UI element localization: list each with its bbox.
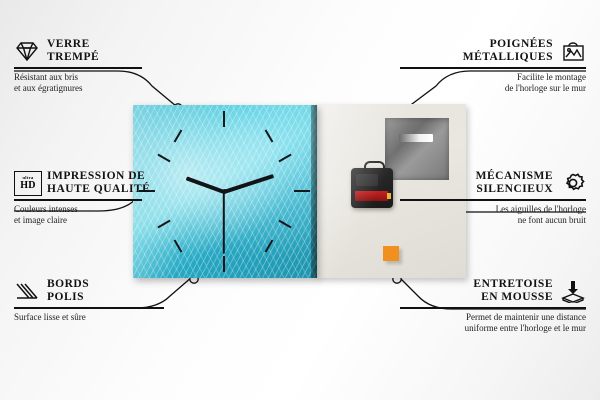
polished-edges-icon [14, 279, 40, 303]
callout-mecanisme-silencieux: MÉCANISMESILENCIEUX Les aiguilles de l'h… [400, 170, 586, 226]
battery [355, 191, 388, 201]
tick-mark [223, 111, 225, 127]
callout-title: MÉCANISMESILENCIEUX [476, 170, 553, 196]
callout-title: POIGNÉESMÉTALLIQUES [463, 38, 553, 64]
second-hand [223, 192, 225, 254]
callout-subtitle: Surface lisse et sûre [14, 312, 200, 323]
mechanism-hanging-loop [364, 161, 385, 172]
callout-verre-trempe: VERRETREMPÉ Résistant aux briset aux égr… [14, 38, 200, 94]
clock-mechanism [351, 168, 393, 208]
callout-entretoise-en-mousse: ENTRETOISEEN MOUSSE Permet de maintenir … [400, 278, 586, 334]
tick-mark [223, 256, 225, 272]
minute-hand [223, 174, 274, 194]
callout-poignees-metalliques: POIGNÉESMÉTALLIQUES Facilite le montaged… [400, 38, 586, 94]
tick-mark [294, 190, 310, 192]
divider [400, 67, 586, 69]
ultra-hd-icon-main-text: HD [20, 181, 36, 191]
ultra-hd-icon: ultra HD [14, 171, 40, 195]
callout-subtitle: Les aiguilles de l'horlogene font aucun … [400, 204, 586, 226]
infographic-canvas: VERRETREMPÉ Résistant aux briset aux égr… [0, 0, 600, 400]
callout-subtitle: Couleurs intenseset image claire [14, 204, 200, 226]
divider [14, 199, 142, 201]
tick-mark [174, 239, 183, 252]
callout-title: BORDSPOLIS [47, 278, 89, 304]
tick-mark [157, 154, 170, 163]
callout-impression-hd: ultra HD IMPRESSION DEHAUTE QUALITÉ Coul… [14, 170, 200, 226]
tick-mark [265, 129, 274, 142]
callout-subtitle: Résistant aux briset aux égratignures [14, 72, 200, 94]
tick-mark [174, 129, 183, 142]
callout-subtitle: Facilite le montagede l'horloge sur le m… [400, 72, 586, 94]
foam-spacer [383, 246, 399, 261]
divider [400, 307, 586, 309]
divider [14, 307, 164, 309]
callout-title: VERRETREMPÉ [47, 38, 99, 64]
divider [14, 67, 142, 69]
diamond-icon [14, 39, 40, 63]
tick-mark [278, 154, 291, 163]
wall-hanger-frame-icon [560, 39, 586, 63]
divider [400, 199, 586, 201]
callout-bords-polis: BORDSPOLIS Surface lisse et sûre [14, 278, 200, 323]
callout-title: IMPRESSION DEHAUTE QUALITÉ [47, 170, 150, 196]
tick-mark [278, 220, 291, 229]
hanger-slot [399, 134, 433, 142]
mechanism-housing-detail [356, 174, 378, 186]
gear-icon [560, 171, 586, 195]
callout-subtitle: Permet de maintenir une distanceuniforme… [400, 312, 586, 334]
callout-title: ENTRETOISEEN MOUSSE [473, 278, 553, 304]
foam-spacer-arrow-icon [560, 279, 586, 303]
tick-mark [265, 239, 274, 252]
